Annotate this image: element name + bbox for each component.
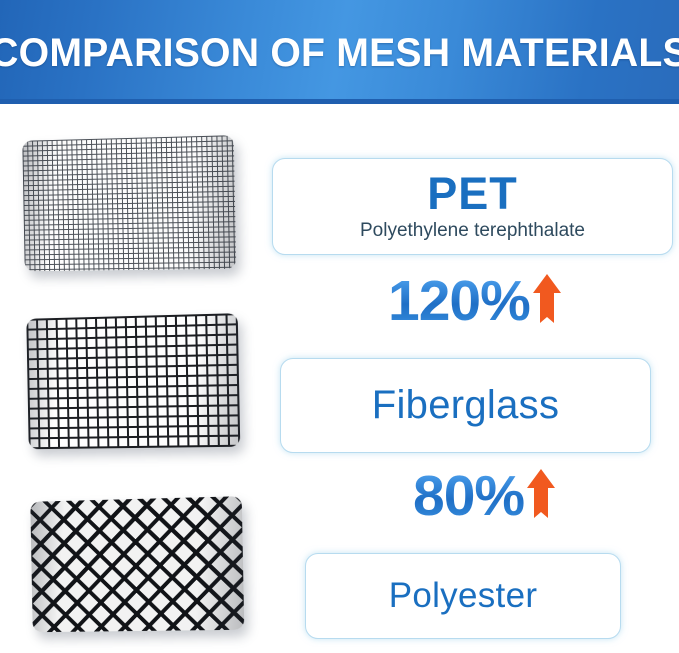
material-subtitle-pet: Polyethylene terephthalate bbox=[360, 220, 585, 242]
mesh-comparison-infographic: COMPARISON OF MESH MATERIALS fine-square… bbox=[0, 0, 679, 653]
polyester-mesh-swatch: diagonal-diamond-lattice bbox=[30, 496, 244, 632]
percent-value-120: 120% bbox=[388, 273, 530, 330]
material-title-pet: PET bbox=[427, 171, 518, 217]
material-title-polyester: Polyester bbox=[389, 578, 538, 614]
material-card-pet: PET Polyethylene terephthalate bbox=[272, 158, 673, 255]
arrow-up-icon bbox=[526, 468, 556, 524]
percent-badge-80: 80% bbox=[413, 468, 556, 525]
diagonal-diamond-lattice-pattern bbox=[30, 496, 244, 632]
mesh-swatch-column: fine-square-grid coarse-square-grid diag… bbox=[0, 104, 266, 653]
percent-badge-120: 120% bbox=[388, 273, 562, 330]
page-title: COMPARISON OF MESH MATERIALS bbox=[0, 31, 679, 76]
coarse-square-grid-pattern bbox=[26, 313, 240, 449]
material-detail-column: PET Polyethylene terephthalate 120% Fibe… bbox=[266, 104, 679, 653]
percent-value-80: 80% bbox=[413, 468, 524, 525]
material-card-fiberglass: Fiberglass bbox=[280, 358, 651, 453]
fine-square-grid-pattern bbox=[22, 135, 236, 271]
fiberglass-mesh-swatch: coarse-square-grid bbox=[26, 313, 240, 449]
material-card-polyester: Polyester bbox=[305, 553, 621, 639]
pet-mesh-swatch: fine-square-grid bbox=[22, 135, 236, 271]
header-banner: COMPARISON OF MESH MATERIALS bbox=[0, 0, 679, 104]
material-title-fiberglass: Fiberglass bbox=[372, 385, 560, 426]
arrow-up-icon bbox=[532, 273, 562, 329]
